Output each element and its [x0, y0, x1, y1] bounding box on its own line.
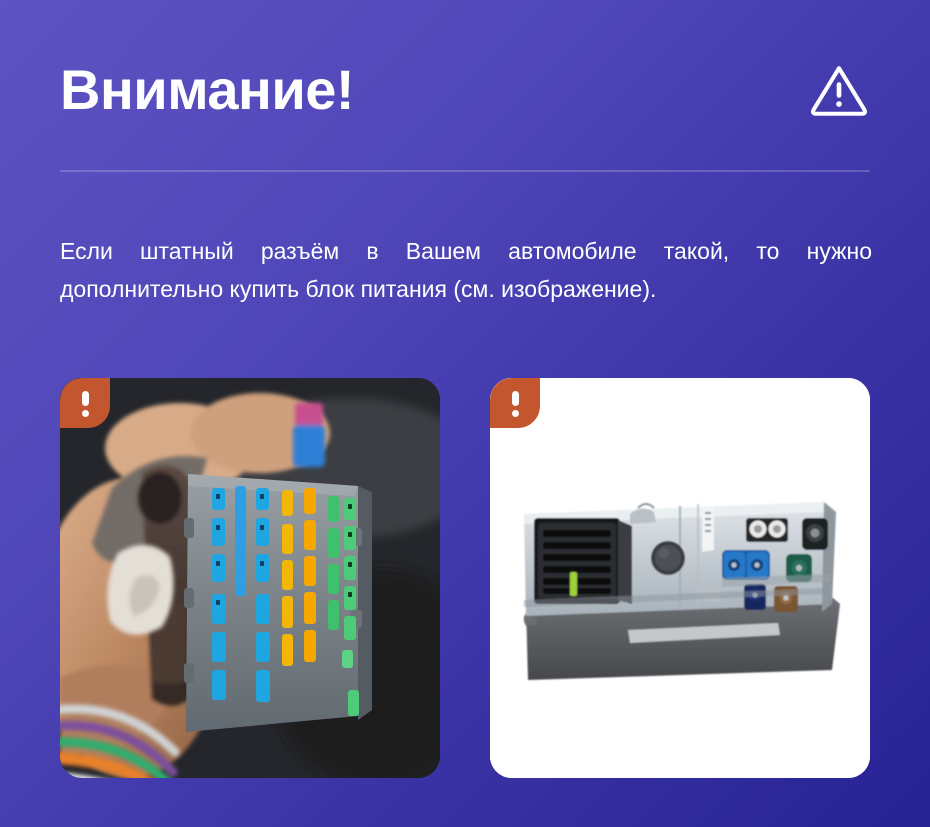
- header: Внимание!: [60, 50, 870, 130]
- image-card-group: [60, 378, 870, 778]
- header-divider: [60, 170, 870, 172]
- exclamation-icon: [82, 378, 89, 428]
- connector-photo-card[interactable]: [60, 378, 440, 778]
- power-supply-module-photo: [490, 378, 870, 778]
- warning-slide: Внимание! Если штатный разъём в Вашем ав…: [0, 0, 930, 827]
- page-title: Внимание!: [60, 62, 354, 118]
- exclamation-badge: [490, 378, 540, 428]
- warning-message-line-2: дополнительно купить блок питания (см. и…: [60, 270, 872, 308]
- warning-message: Если штатный разъём в Вашем автомобиле т…: [60, 232, 872, 308]
- power-supply-photo-card[interactable]: [490, 378, 870, 778]
- exclamation-badge: [60, 378, 110, 428]
- warning-triangle-icon: [808, 59, 870, 121]
- exclamation-icon: [512, 378, 519, 428]
- warning-message-line-1: Если штатный разъём в Вашем автомобиле т…: [60, 232, 872, 270]
- car-wiring-connector-photo: [60, 378, 440, 778]
